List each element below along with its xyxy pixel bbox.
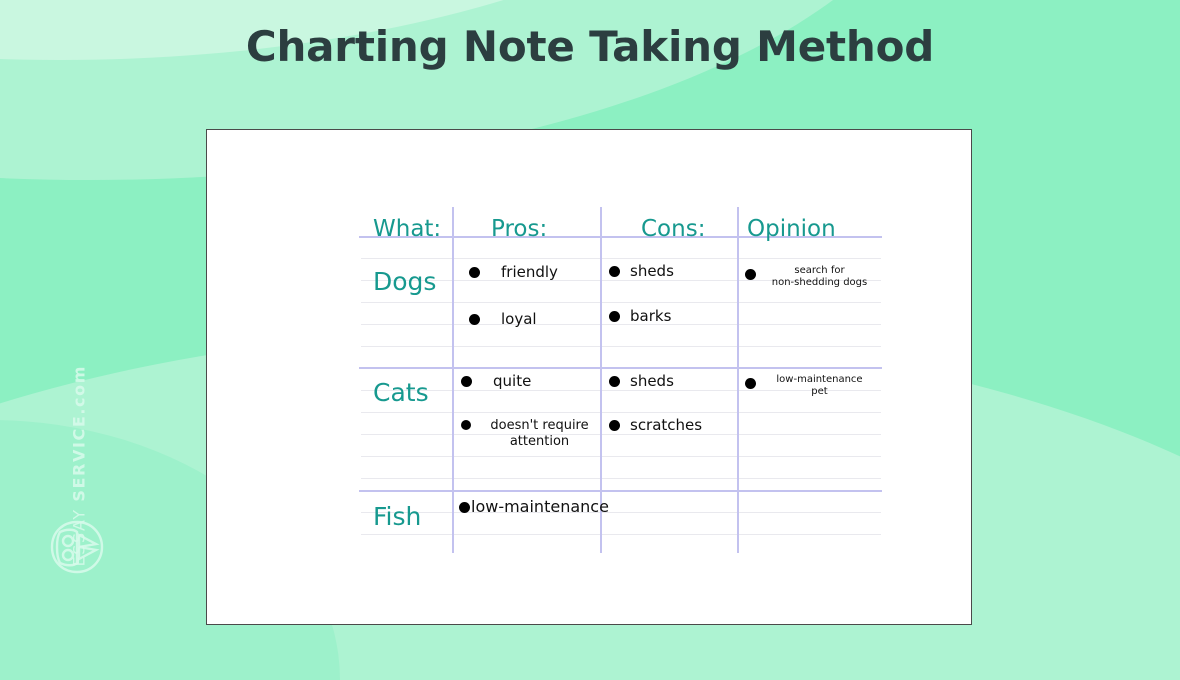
column-header-what: What:	[373, 216, 441, 242]
cell-text: sheds	[630, 372, 674, 390]
rule-line	[361, 534, 881, 535]
cell-text: search for non-shedding dogs	[766, 265, 873, 289]
rule-line	[361, 302, 881, 303]
rule-section-cats	[359, 367, 882, 369]
row-label-fish: Fish	[373, 502, 421, 531]
bullet-icon	[461, 420, 471, 430]
row-label-dogs: Dogs	[373, 267, 436, 296]
rule-line	[361, 512, 881, 513]
rule-line	[361, 434, 881, 435]
charting-table: What: Pros: Cons: Opinion Dogs Cats Fish…	[351, 190, 881, 560]
bullet-icon	[609, 311, 620, 322]
cell-cats-con-2: scratches	[609, 416, 702, 434]
cell-dogs-pro-1: friendly	[469, 263, 558, 281]
rule-line	[361, 258, 881, 259]
rule-section-fish	[359, 490, 882, 492]
cell-text: quite	[493, 372, 531, 390]
bullet-icon	[469, 267, 480, 278]
column-header-cons: Cons:	[641, 216, 705, 242]
watermark: ESSAY SERVICE.com	[40, 400, 120, 580]
cell-text: loyal	[501, 310, 537, 328]
cell-text: barks	[630, 307, 671, 325]
cell-text: low-maintenance	[471, 498, 609, 516]
cell-text: doesn't require attention	[478, 418, 601, 450]
column-header-opinion: Opinion	[747, 216, 836, 242]
cell-dogs-con-2: barks	[609, 307, 671, 325]
rule-line	[361, 456, 881, 457]
bullet-icon	[745, 378, 756, 389]
cell-text: friendly	[501, 263, 558, 281]
cell-dogs-opinion: search for non-shedding dogs	[745, 265, 873, 289]
cell-dogs-con-1: sheds	[609, 262, 674, 280]
bullet-icon	[469, 314, 480, 325]
row-label-cats: Cats	[373, 378, 429, 407]
bullet-icon	[609, 266, 620, 277]
cell-cats-con-1: sheds	[609, 372, 674, 390]
cell-fish-pro-1: low-maintenance	[459, 498, 609, 516]
bullet-icon	[459, 502, 470, 513]
rule-line	[361, 478, 881, 479]
cell-text: low-maintenance pet	[766, 374, 873, 398]
cell-cats-pro-1: quite	[461, 372, 531, 390]
bullet-icon	[609, 376, 620, 387]
rule-line	[361, 346, 881, 347]
bullet-icon	[745, 269, 756, 280]
watermark-line-2: SERVICE.com	[70, 365, 89, 502]
chart-card: What: Pros: Cons: Opinion Dogs Cats Fish…	[206, 129, 972, 625]
owl-logo	[44, 518, 106, 576]
cell-cats-opinion: low-maintenance pet	[745, 374, 873, 398]
cell-cats-pro-2: doesn't require attention	[461, 418, 601, 450]
column-divider-cons-opinion	[737, 207, 739, 553]
column-header-pros: Pros:	[491, 216, 547, 242]
cell-dogs-pro-2: loyal	[469, 310, 537, 328]
bullet-icon	[609, 420, 620, 431]
page-title: Charting Note Taking Method	[0, 16, 1180, 78]
cell-text: sheds	[630, 262, 674, 280]
cell-text: scratches	[630, 416, 702, 434]
rule-line	[361, 412, 881, 413]
bullet-icon	[461, 376, 472, 387]
column-divider-what-pros	[452, 207, 454, 553]
